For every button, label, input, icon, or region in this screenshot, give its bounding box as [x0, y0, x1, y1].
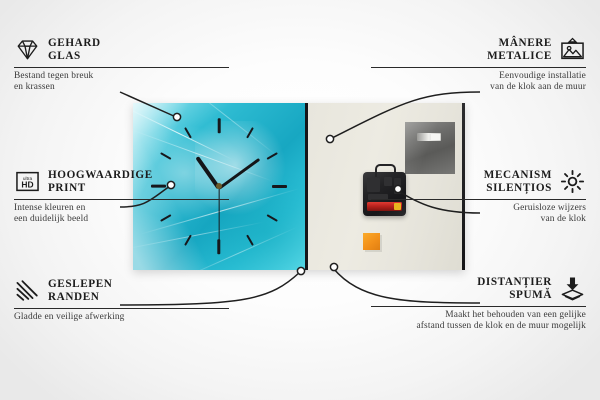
metal-hanger-strip: [405, 122, 455, 174]
feature-description: Maakt het behouden van een gelijke afsta…: [371, 310, 586, 333]
picture-frame-icon: [559, 36, 586, 63]
feature-divider: [14, 67, 229, 68]
clock-tick: [218, 118, 221, 133]
feature-mecanism-silentios[interactable]: MECANISM SILENȚIOS Geruisloze wijzers va…: [371, 168, 586, 226]
clock-tick: [160, 152, 171, 160]
feature-description: Intense kleuren en een duidelijk beeld: [14, 203, 229, 226]
diamond-icon: [14, 36, 41, 63]
feature-divider: [371, 67, 586, 68]
svg-text:HD: HD: [21, 180, 33, 190]
feature-gehard-glas[interactable]: GEHARD GLAS Bestand tegen breuk en krass…: [14, 36, 229, 94]
feature-header: MÂNERE METALICE: [371, 36, 586, 63]
spacer-arrow-icon: [559, 275, 586, 302]
feather-streak: [133, 222, 264, 250]
feature-title: GEHARD GLAS: [48, 37, 101, 62]
feature-divider: [371, 306, 586, 307]
feature-header: ultra HD HOOGWAARDIGE PRINT: [14, 168, 229, 195]
feature-title: DISTANȚIER SPUMĂ: [477, 276, 552, 301]
clock-tick: [272, 185, 287, 188]
feature-header: GESLEPEN RANDEN: [14, 277, 229, 304]
feature-manere-metalice[interactable]: MÂNERE METALICE Eenvoudige installatie v…: [371, 36, 586, 94]
hanger-slot: [417, 133, 441, 141]
bevelled-edges-icon: [14, 277, 41, 304]
feature-description: Geruisloze wijzers van de klok: [371, 203, 586, 226]
feature-header: DISTANȚIER SPUMĂ: [371, 275, 586, 302]
feature-distantier-spuma[interactable]: DISTANȚIER SPUMĂ Maakt het behouden van …: [371, 275, 586, 333]
feature-description: Eenvoudige installatie van de klok aan d…: [371, 71, 586, 94]
feature-hoogwaardige-print[interactable]: ultra HD HOOGWAARDIGE PRINT Intense kleu…: [14, 168, 229, 226]
feature-description: Bestand tegen breuk en krassen: [14, 71, 229, 94]
foam-spacer: [363, 233, 380, 250]
ultra-hd-icon: ultra HD: [14, 168, 41, 195]
feature-geslepen-randen[interactable]: GESLEPEN RANDEN Gladde en veilige afwerk…: [14, 277, 229, 323]
feature-title: MECANISM SILENȚIOS: [484, 169, 552, 194]
feature-title: GESLEPEN RANDEN: [48, 278, 113, 303]
feature-divider: [371, 199, 586, 200]
infographic-canvas: GEHARD GLAS Bestand tegen breuk en krass…: [0, 0, 600, 400]
feature-title: HOOGWAARDIGE PRINT: [48, 169, 153, 194]
feature-description: Gladde en veilige afwerking: [14, 312, 229, 323]
feature-header: GEHARD GLAS: [14, 36, 229, 63]
clock-tick: [246, 234, 254, 245]
feature-divider: [14, 199, 229, 200]
gear-icon: [559, 168, 586, 195]
feature-divider: [14, 308, 229, 309]
feature-header: MECANISM SILENȚIOS: [371, 168, 586, 195]
feather-streak: [178, 227, 297, 270]
feature-title: MÂNERE METALICE: [487, 37, 552, 62]
